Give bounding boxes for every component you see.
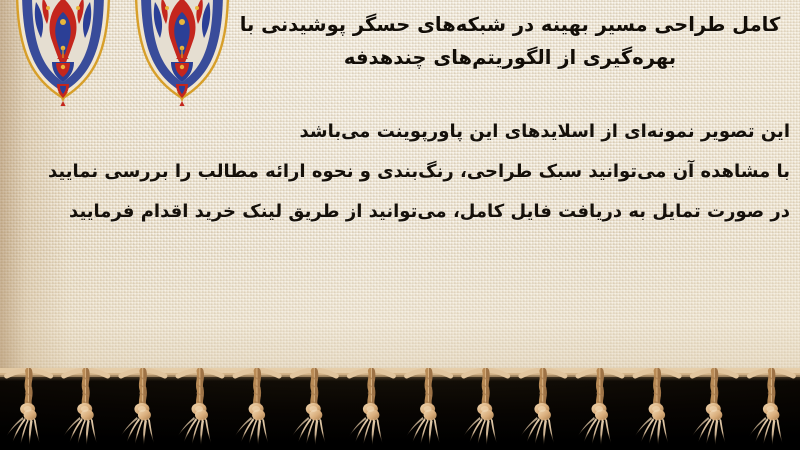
medallion-svg <box>0 0 260 114</box>
body-line-2: با مشاهده آن می‌توانید سبک طراحی، رنگ‌بن… <box>8 152 792 192</box>
slide-title-line-2: بهره‌گیری از الگوریتم‌های چندهدفه <box>230 41 790 74</box>
presentation-slide: کامل طراحی مسیر بهینه در شبکه‌های حسگر پ… <box>0 0 800 450</box>
carpet-fabric-background: کامل طراحی مسیر بهینه در شبکه‌های حسگر پ… <box>0 0 800 378</box>
decorative-motif-group <box>0 0 260 114</box>
body-line-1: این تصویر نمونه‌ای از اسلایدهای این پاور… <box>8 112 792 152</box>
slide-title: کامل طراحی مسیر بهینه در شبکه‌های حسگر پ… <box>230 8 790 74</box>
fabric-edge-shadow <box>0 374 800 381</box>
body-line-3: در صورت تمایل به دریافت فایل کامل، می‌تو… <box>8 192 792 232</box>
black-lower-band <box>0 374 800 450</box>
slide-body: این تصویر نمونه‌ای از اسلایدهای این پاور… <box>8 112 792 232</box>
slide-title-line-1: کامل طراحی مسیر بهینه در شبکه‌های حسگر پ… <box>230 8 790 41</box>
